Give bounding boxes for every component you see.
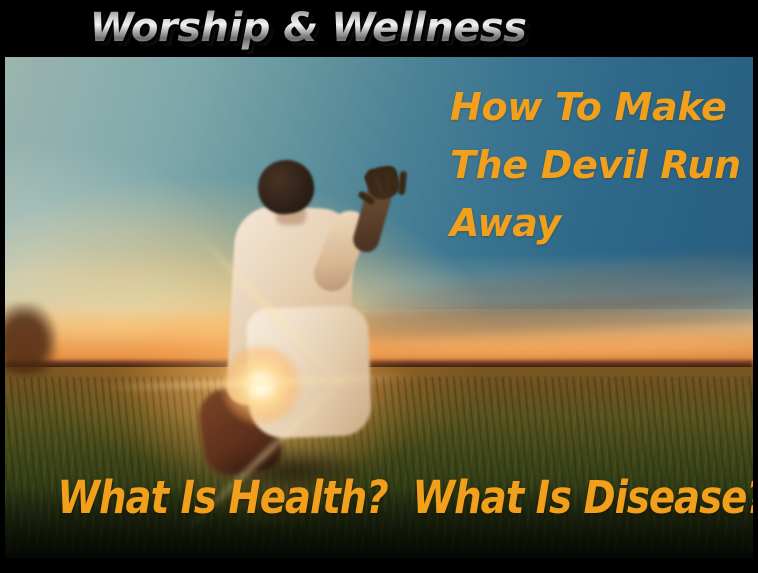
headline-line-2: The Devil Run <box>450 136 750 194</box>
headline-line-1: How To Make <box>450 78 750 136</box>
headline-text: How To Make The Devil Run Away <box>450 78 750 252</box>
page-title: Worship & Wellness <box>0 2 758 54</box>
hero-image-frame: How To Make The Devil Run Away What Is H… <box>5 57 753 558</box>
frame-edge-bottom <box>0 558 758 573</box>
headline-line-3: Away <box>450 194 750 252</box>
figure-finger <box>398 171 407 196</box>
slide-canvas: Worship & Wellness <box>0 0 758 573</box>
frame-edge-right <box>753 57 758 573</box>
hero-image: How To Make The Devil Run Away What Is H… <box>5 57 753 558</box>
header-bar: Worship & Wellness <box>0 0 758 57</box>
bottom-caption-text: What Is Health? What Is Disease? <box>57 471 700 525</box>
frame-edge-left <box>0 57 5 573</box>
